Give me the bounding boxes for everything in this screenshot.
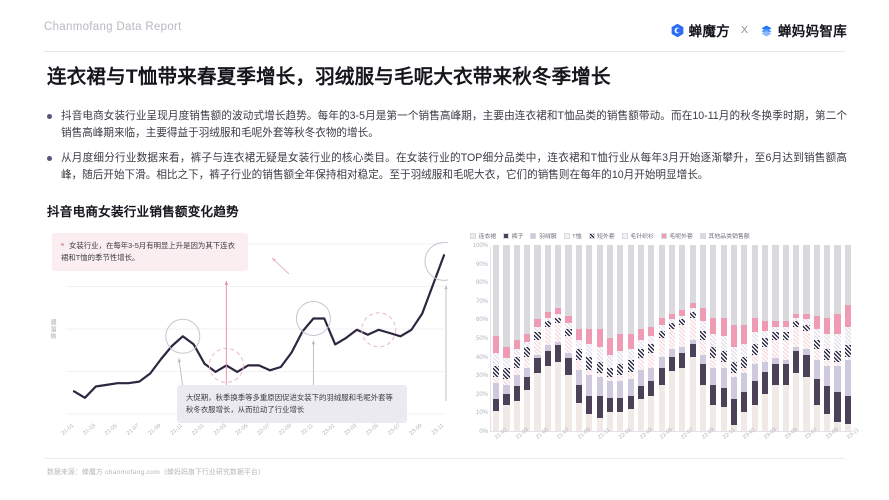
bar-segment	[514, 368, 520, 375]
bar-segment	[710, 347, 716, 358]
stacked-bar[interactable]	[524, 245, 530, 431]
stacked-bar[interactable]	[803, 245, 809, 431]
bar-segment	[524, 390, 530, 431]
bar-segment	[493, 245, 499, 336]
bar-segment	[659, 385, 665, 432]
bar-segment	[514, 349, 520, 356]
stacked-bar[interactable]	[514, 245, 520, 431]
axis-tick-label: 20%	[476, 392, 488, 398]
bar-segment	[607, 355, 613, 368]
bar-segment	[845, 360, 851, 395]
bar-segment	[731, 362, 737, 373]
bar-segment	[669, 245, 675, 314]
bar-segment	[534, 245, 540, 319]
axis-tick-label: 21-01	[60, 423, 75, 437]
axis-tick-label: 23-11	[431, 423, 446, 437]
bar-segment	[638, 370, 644, 387]
bar-segment	[741, 373, 747, 392]
header-divider	[44, 51, 845, 52]
legend-item[interactable]: T恤	[564, 231, 582, 240]
page-title: 连衣裙与T恤带来春夏季增长，羽绒服与毛呢大衣带来秋冬季增长	[47, 60, 611, 89]
bar-segment	[752, 318, 758, 333]
bar-segment	[576, 329, 582, 340]
list-item: 抖音电商女装行业呈现月度销售额的波动式增长趋势。每年的3-5月是第一个销售高峰期…	[47, 108, 847, 142]
bar-segment	[628, 379, 634, 396]
stacked-bar[interactable]	[710, 245, 716, 431]
bar-segment	[762, 338, 768, 347]
stacked-bar[interactable]	[824, 245, 830, 431]
bar-segment	[503, 245, 509, 347]
axis-tick-label: 23-09	[409, 423, 424, 437]
bar-segment	[555, 323, 561, 342]
bar-segment	[845, 424, 851, 431]
bar-segment	[690, 318, 696, 340]
stacked-bar[interactable]	[503, 245, 509, 431]
bar-segment	[555, 362, 561, 431]
stacked-bar[interactable]	[814, 245, 820, 431]
stacked-bar[interactable]	[586, 245, 592, 431]
bar-segment	[679, 353, 685, 368]
bar-segment	[534, 358, 540, 373]
bar-segment	[597, 377, 603, 396]
bar-segment	[762, 347, 768, 362]
bar-segment	[503, 358, 509, 367]
bar-segment	[586, 396, 592, 415]
bullet-text: 从月度细分行业数据来看，裤子与连衣裙无疑是女装行业的核心类目。在女装行业的TOP…	[61, 150, 847, 184]
bar-segment	[607, 338, 613, 355]
bar-segment	[793, 351, 799, 373]
bar-segment	[565, 329, 571, 336]
bar-segment	[772, 245, 778, 321]
bar-segment	[834, 334, 840, 351]
bar-segment	[545, 327, 551, 346]
bar-segment	[824, 349, 830, 360]
bar-segment	[762, 394, 768, 431]
bar-segment	[845, 327, 851, 346]
bar-segment	[731, 245, 737, 325]
annotation-dot-icon	[61, 243, 64, 246]
stacked-bar[interactable]	[648, 245, 654, 431]
axis-tick-label: 22-03	[213, 423, 228, 437]
bar-segment	[710, 358, 716, 367]
bar-segment	[721, 388, 727, 407]
bar-segment	[814, 360, 820, 379]
bar-segment	[721, 245, 727, 318]
stacked-layers-icon	[759, 23, 774, 38]
bar-segment	[638, 329, 644, 340]
bar-segment	[586, 245, 592, 329]
bar-segment	[576, 349, 582, 360]
axis-tick-label: 21-11	[170, 423, 185, 437]
bar-segment	[752, 245, 758, 318]
legend-swatch-icon	[564, 233, 570, 239]
bar-segment	[638, 358, 644, 369]
bar-segment	[741, 245, 747, 325]
legend-swatch-icon	[503, 233, 509, 239]
bar-segment	[607, 245, 613, 338]
bar-segment	[524, 357, 530, 368]
legend-item[interactable]: 其他品类销售额	[700, 231, 750, 240]
bar-segment	[648, 336, 654, 343]
bar-segment	[700, 364, 706, 384]
stacked-bar[interactable]	[721, 245, 727, 431]
bar-segment	[648, 368, 654, 381]
bar-segment	[659, 245, 665, 318]
bar-segment	[679, 245, 685, 310]
bar-segment	[514, 375, 520, 386]
stacked-bar[interactable]	[679, 245, 685, 431]
footer-divider	[44, 458, 845, 459]
slide-header: Chanmofang Data Report 蝉魔方 X	[0, 0, 889, 52]
bar-segment	[762, 331, 768, 338]
hexagon-logo-icon	[670, 23, 685, 38]
stacked-bar[interactable]	[669, 245, 675, 431]
axis-tick-label: 22-01	[191, 423, 206, 437]
axis-tick-label: 21-05	[104, 423, 119, 437]
axis-tick-label: 22-07	[256, 423, 271, 437]
stacked-bar[interactable]	[731, 245, 737, 431]
bar-segment	[814, 329, 820, 340]
bar-segment	[731, 347, 737, 362]
stacked-bar[interactable]	[659, 245, 665, 431]
bar-segment	[503, 368, 509, 379]
stacked-bar[interactable]	[597, 245, 603, 431]
bar-segment	[534, 340, 540, 355]
bar-segment	[545, 351, 551, 366]
stacked-bar[interactable]	[545, 245, 551, 431]
stacked-bar[interactable]	[772, 245, 778, 431]
axis-tick-label: 23-05	[365, 423, 380, 437]
bar-segment	[783, 332, 789, 339]
bar-segment	[824, 366, 830, 386]
axis-tick-label: 22-11	[300, 423, 315, 437]
arrow-head-icon	[225, 281, 228, 285]
legend-item[interactable]: 毛呢外套	[661, 231, 693, 240]
bar-segment	[721, 336, 727, 351]
bar-segment	[628, 360, 634, 371]
bar-segment	[710, 334, 716, 347]
bar-segment	[597, 245, 603, 329]
bar-segment	[565, 316, 571, 323]
bar-segment	[514, 340, 520, 349]
bar-segment	[576, 370, 582, 385]
stacked-bar[interactable]	[617, 245, 623, 431]
bar-segment	[814, 316, 820, 329]
bar-segment	[659, 357, 665, 368]
arrow-head-icon	[444, 285, 447, 289]
bar-segment	[597, 396, 603, 418]
bar-segment	[493, 411, 499, 431]
stacked-bar[interactable]	[638, 245, 644, 431]
bar-segment	[628, 372, 634, 379]
bar-segment	[772, 340, 778, 359]
bar-segment	[814, 379, 820, 405]
bullet-dot-icon	[47, 156, 52, 161]
bar-segment	[824, 318, 830, 335]
bar-segment	[700, 340, 706, 355]
bar-segment	[762, 362, 768, 371]
bar-segment	[524, 245, 530, 334]
axis-tick-label: 23-07	[387, 423, 402, 437]
bar-segment	[710, 318, 716, 335]
bar-segment	[834, 392, 840, 422]
stacked-bar[interactable]	[690, 245, 696, 431]
legend-item[interactable]: 毛针织衫	[622, 231, 654, 240]
bar-segment	[617, 351, 623, 364]
bar-segment	[679, 368, 685, 431]
bar-segment	[576, 360, 582, 369]
bar-segment	[731, 399, 737, 425]
bar-segment	[752, 344, 758, 355]
stacked-bar-plot	[490, 246, 852, 432]
axis-tick-label: 30%	[476, 373, 488, 379]
bar-segment	[793, 245, 799, 314]
bar-segment	[545, 366, 551, 431]
bar-segment	[565, 358, 571, 375]
bar-segment	[597, 329, 603, 348]
bar-segment	[638, 245, 644, 329]
bar-segment	[586, 329, 592, 344]
bullet-dot-icon	[47, 114, 52, 119]
bar-segment	[493, 383, 499, 400]
axis-tick-label: 22-05	[235, 423, 250, 437]
bar-segment	[752, 355, 758, 364]
bar-segment	[700, 331, 706, 340]
stacked-bar[interactable]	[845, 245, 851, 431]
bar-segment	[803, 245, 809, 314]
bar-segment	[834, 245, 840, 314]
report-slide: Chanmofang Data Report 蝉魔方 X	[0, 0, 889, 500]
bar-segment	[783, 364, 789, 384]
logo-chanmama: 蝉妈妈智库	[759, 20, 847, 40]
annotation-seasonal-growth: 女装行业，在每年3-5月有明显上升是因为其下连衣裙和T恤的季节性增长。	[52, 233, 248, 271]
legend-label: T恤	[572, 231, 582, 240]
bar-segment	[814, 349, 820, 360]
bar-segment	[824, 386, 830, 414]
axis-tick-label: 23-01	[322, 423, 337, 437]
bar-segment	[700, 355, 706, 364]
bar-segment	[783, 340, 789, 360]
bar-segment	[576, 403, 582, 431]
bar-segment	[597, 362, 603, 373]
axis-tick-label: 0%	[479, 429, 488, 435]
legend-label: 裤子	[512, 231, 524, 240]
stacked-bar[interactable]	[628, 245, 634, 431]
bar-segment	[576, 245, 582, 329]
bar-segment	[834, 314, 840, 334]
bar-segment	[834, 351, 840, 362]
bar-segment	[783, 385, 789, 432]
stacked-bar[interactable]	[534, 245, 540, 431]
bar-segment	[690, 245, 696, 303]
bar-segment	[648, 381, 654, 396]
bar-segment	[597, 418, 603, 431]
stacked-bar[interactable]	[741, 245, 747, 431]
stacked-bar[interactable]	[576, 245, 582, 431]
stacked-bar[interactable]	[762, 245, 768, 431]
annotation-text: 大促期，秋季换季等多重原因促进女装下的羽绒服和毛呢外套等秋冬衣服增长，从而拉动了…	[186, 393, 393, 414]
stacked-bar[interactable]	[493, 245, 499, 431]
stacked-bar-legend: 连衣裙裤子羽绒服T恤短外套毛针织衫毛呢外套其他品类销售额	[470, 231, 860, 240]
bar-segment	[659, 338, 665, 357]
legend-swatch-icon	[622, 233, 628, 239]
bar-segment	[741, 412, 747, 431]
bar-segment	[493, 399, 499, 410]
bar-segment	[524, 334, 530, 341]
legend-item[interactable]: 裤子	[503, 231, 523, 240]
bar-segment	[628, 245, 634, 334]
legend-label: 羽绒服	[539, 231, 557, 240]
stacked-bar[interactable]	[607, 245, 613, 431]
axis-tick-label: 60%	[476, 317, 488, 323]
legend-label: 短外套	[597, 231, 615, 240]
bar-segment	[752, 364, 758, 381]
trend-line	[74, 255, 444, 397]
bar-segment	[721, 368, 727, 388]
bar-segment	[617, 364, 623, 375]
bar-segment	[669, 371, 675, 431]
bar-segment	[793, 327, 799, 347]
bar-segment	[814, 245, 820, 316]
bar-segment	[545, 245, 551, 312]
bar-segment	[617, 245, 623, 334]
line-chart-ylabel: 销售额	[50, 318, 59, 339]
bar-segment	[824, 414, 830, 431]
bullet-text: 抖音电商女装行业呈现月度销售额的波动式增长趋势。每年的3-5月是第一个销售高峰期…	[61, 108, 847, 142]
bar-segment	[710, 245, 716, 318]
axis-tick-label: 90%	[476, 262, 488, 268]
bar-segment	[514, 386, 520, 401]
legend-swatch-icon	[700, 233, 706, 239]
axis-tick-label: 21-07	[126, 423, 141, 437]
bar-segment	[607, 381, 613, 398]
bar-segment	[824, 334, 830, 349]
bar-segment	[803, 377, 809, 431]
stacked-bar-yaxis: 0%10%20%30%40%50%60%70%80%90%100%	[462, 246, 488, 432]
bar-segment	[772, 332, 778, 339]
legend-item[interactable]: 短外套	[589, 231, 615, 240]
bar-segment	[772, 364, 778, 384]
bar-segment	[534, 332, 540, 339]
bar-segment	[679, 325, 685, 347]
bar-segment	[628, 334, 634, 349]
logo-primary-label: 蝉魔方	[689, 20, 730, 40]
bar-segment	[534, 373, 540, 431]
legend-item[interactable]: 连衣裙	[470, 231, 496, 240]
stacked-bar[interactable]	[565, 245, 571, 431]
bar-segment	[565, 375, 571, 431]
bar-segment	[669, 329, 675, 349]
bar-segment	[576, 340, 582, 349]
bar-segment	[721, 318, 727, 337]
section-heading: 抖音电商女装行业销售额变化趋势	[47, 201, 239, 220]
bar-segment	[752, 381, 758, 405]
bar-segment	[597, 347, 603, 362]
bar-segment	[565, 336, 571, 353]
bar-segment	[690, 357, 696, 431]
bar-segment	[638, 340, 644, 349]
bar-segment	[783, 245, 789, 321]
annotation-text: 女装行业，在每年3-5月有明显上升是因为其下连衣裙和T恤的季节性增长。	[61, 241, 235, 262]
bar-segment	[669, 349, 675, 356]
stacked-bar[interactable]	[783, 245, 789, 431]
bar-segment	[514, 357, 520, 368]
bar-segment	[555, 345, 561, 362]
bar-segment	[565, 245, 571, 316]
bar-segment	[648, 245, 654, 327]
axis-tick-label: 80%	[476, 280, 488, 286]
bar-segment	[690, 344, 696, 357]
bar-segment	[576, 385, 582, 404]
legend-item[interactable]: 羽绒服	[530, 231, 556, 240]
bar-segment	[659, 368, 665, 385]
stacked-bar[interactable]	[700, 245, 706, 431]
data-source-note: 数据来源：蝉魔方 chanmofang.com（蝉妈妈旗下行业研究数据平台）	[47, 466, 265, 476]
bar-segment	[845, 345, 851, 356]
bar-segment	[721, 407, 727, 431]
bar-segment	[721, 351, 727, 362]
bar-segment	[514, 401, 520, 431]
bar-segment	[731, 377, 737, 399]
bar-segment	[762, 245, 768, 321]
arrow-head-icon	[312, 340, 315, 344]
bar-segment	[503, 394, 509, 405]
stacked-bar[interactable]	[793, 245, 799, 431]
bar-segment	[845, 396, 851, 424]
bar-segment	[824, 245, 830, 318]
bar-segment	[845, 305, 851, 327]
bar-segment	[731, 325, 737, 347]
bar-segment	[617, 334, 623, 351]
legend-label: 毛呢外套	[669, 231, 693, 240]
legend-label: 连衣裙	[479, 231, 497, 240]
bullet-list: 抖音电商女装行业呈现月度销售额的波动式增长趋势。每年的3-5月是第一个销售高峰期…	[47, 108, 847, 192]
bar-segment	[617, 398, 623, 413]
bar-segment	[710, 368, 716, 385]
logo-secondary-label: 蝉妈妈智库	[778, 20, 847, 40]
axis-tick-label: 50%	[476, 336, 488, 342]
bar-segment	[524, 368, 530, 377]
stacked-bar[interactable]	[752, 245, 758, 431]
bar-segment	[503, 347, 509, 358]
legend-swatch-icon	[530, 233, 536, 239]
bar-segment	[638, 386, 644, 399]
bar-segment	[803, 355, 809, 377]
bar-segment	[772, 385, 778, 432]
bar-segment	[700, 321, 706, 330]
axis-tick-label: 21-03	[82, 423, 97, 437]
bar-segment	[524, 347, 530, 356]
bar-segment	[617, 412, 623, 431]
bar-segment	[741, 325, 747, 344]
bar-segment	[659, 331, 665, 338]
logo-connector: X	[739, 24, 750, 36]
stacked-bar-xaxis-labels: 21-0121-0321-0521-0721-0921-1122-0122-03…	[492, 436, 854, 456]
bar-segment	[700, 245, 706, 308]
bar-segment	[669, 357, 675, 372]
bar-segment	[834, 366, 840, 392]
stacked-bar[interactable]	[555, 245, 561, 431]
bar-segment	[586, 344, 592, 357]
axis-tick-label: 70%	[476, 299, 488, 305]
bar-segment	[607, 368, 613, 377]
stacked-bar[interactable]	[834, 245, 840, 431]
list-item: 从月度细分行业数据来看，裤子与连衣裙无疑是女装行业的核心类目。在女装行业的TOP…	[47, 150, 847, 184]
legend-label: 毛针织衫	[630, 231, 654, 240]
legend-swatch-icon	[470, 233, 476, 239]
bar-segment	[648, 344, 654, 353]
bar-segment	[607, 398, 613, 413]
